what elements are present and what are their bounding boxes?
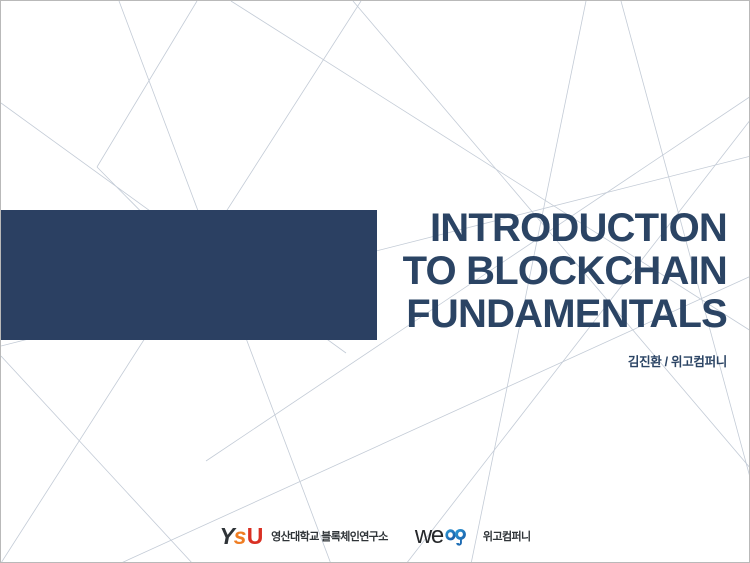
- ysu-institute-label: 영산대학교 블록체인연구소: [271, 528, 388, 544]
- wego-company-label: 위고컴퍼니: [483, 528, 531, 544]
- presentation-slide: INTRODUCTION TO BLOCKCHAIN FUNDAMENTALS …: [0, 0, 750, 563]
- title-line-2: TO BLOCKCHAIN: [307, 250, 727, 293]
- wego-logo-group: we 위고컴퍼니: [388, 524, 531, 548]
- ysu-letter-u: U: [247, 525, 262, 548]
- ysu-letter-y: Y: [219, 525, 233, 548]
- footer-logo-bar: Y s U 영산대학교 블록체인연구소 we: [1, 519, 749, 553]
- ysu-letter-s: s: [234, 525, 246, 548]
- title-line-1: INTRODUCTION: [307, 207, 727, 250]
- wego-word-we: we: [415, 524, 443, 548]
- ysu-logo-group: Y s U 영산대학교 블록체인연구소: [219, 525, 387, 548]
- author-byline: 김진환 / 위고컴퍼니: [307, 351, 727, 370]
- page-title: INTRODUCTION TO BLOCKCHAIN FUNDAMENTALS: [307, 207, 727, 336]
- ysu-logo-icon: Y s U: [219, 525, 262, 548]
- wego-word-go-mark: [444, 527, 472, 546]
- wego-logo-icon: we: [415, 524, 472, 548]
- title-line-3: FUNDAMENTALS: [307, 293, 727, 336]
